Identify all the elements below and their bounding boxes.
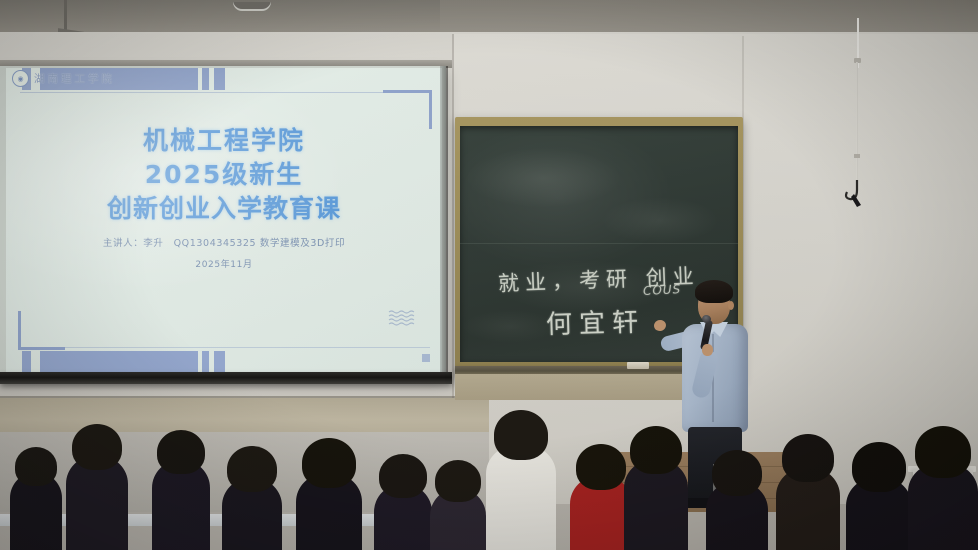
projection-screen: ◉ 湖南理工学院 机械工程学院 2025级新生 创新创业入学教育课 主讲人：李升… xyxy=(0,66,446,376)
presenter xyxy=(662,272,766,502)
wainscot-band xyxy=(0,398,489,434)
presenter-shoe-right xyxy=(718,500,746,510)
slide-corner-bottom-left xyxy=(18,311,65,350)
presentation-slide: ◉ 湖南理工学院 机械工程学院 2025级新生 创新创业入学教育课 主讲人：李升… xyxy=(6,68,442,374)
pull-cord-hook-icon xyxy=(841,180,869,208)
slide-top-bar-3 xyxy=(202,68,209,90)
slide-bottom-bar-2 xyxy=(40,351,198,374)
desk-row xyxy=(0,514,489,526)
presenter-ear xyxy=(728,301,734,310)
slide-date-line: 2025年11月 xyxy=(6,257,442,270)
presenter-torso xyxy=(682,324,748,432)
slide-top-bar-4 xyxy=(214,68,225,90)
podium-microphone-icon xyxy=(959,438,968,449)
slide-title-line-2: 2025级新生 xyxy=(6,158,442,192)
presenter-hair xyxy=(695,280,733,303)
slide-presenter-line: 主讲人：李升 QQ1304345325 数学建模及3D打印 xyxy=(6,235,442,249)
slide-bottom-bar-3 xyxy=(202,351,209,374)
lower-wall xyxy=(0,432,489,512)
screen-right-edge xyxy=(440,66,448,378)
lecture-hall-photo: ◉ 湖南理工学院 机械工程学院 2025级新生 创新创业入学教育课 主讲人：李升… xyxy=(0,0,978,550)
presenter-shoe-left xyxy=(682,498,710,508)
pull-cord-rod[interactable] xyxy=(856,62,858,184)
chalk-eraser-icon xyxy=(627,362,649,369)
slide-logo: ◉ 湖南理工学院 xyxy=(12,70,115,87)
slide-title-line-1: 机械工程学院 xyxy=(6,124,442,158)
university-seal-icon: ◉ xyxy=(12,70,29,87)
ceiling-mount-rail xyxy=(64,0,67,32)
screen-weight-bar xyxy=(0,372,452,384)
slide-title-block: 机械工程学院 2025级新生 创新创业入学教育课 主讲人：李升 QQ130434… xyxy=(6,124,442,270)
slide-hairline-top xyxy=(20,92,430,93)
wainscot-edge xyxy=(0,396,489,398)
presenter-leg-gap xyxy=(713,464,717,506)
blackboard-handwriting-line-2: 何宜轩 xyxy=(546,302,646,342)
slide-logo-text: 湖南理工学院 xyxy=(34,71,115,86)
lectern xyxy=(913,470,973,520)
pull-cord-joint xyxy=(854,154,860,158)
square-mark-icon xyxy=(422,354,430,362)
wave-lines-icon xyxy=(388,310,418,328)
presenter-mic-hand xyxy=(702,344,713,356)
slide-title-line-3: 创新创业入学教育课 xyxy=(6,192,442,226)
slide-bottom-bar-4 xyxy=(214,351,225,374)
blackboard-panel-seam xyxy=(460,243,738,244)
ceiling-vent-icon xyxy=(233,2,271,11)
slide-hairline-bottom xyxy=(20,347,430,348)
slide-bottom-bar-1 xyxy=(22,351,31,374)
